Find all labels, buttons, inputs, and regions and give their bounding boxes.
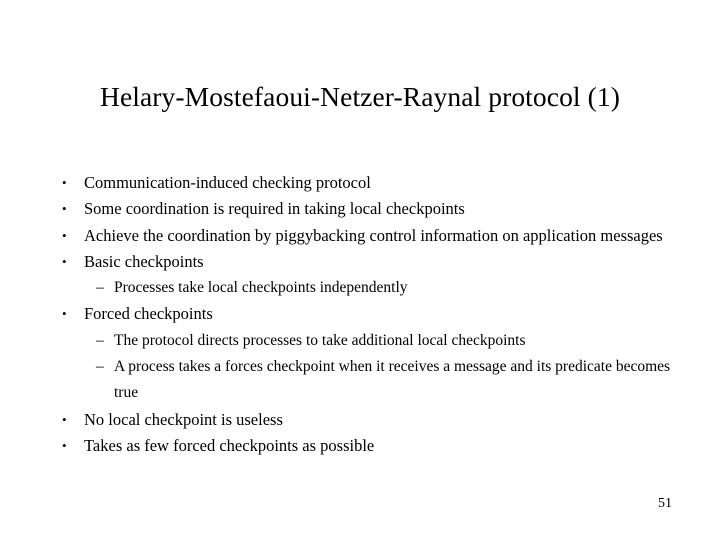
presentation-slide: Helary-Mostefaoui-Netzer-Raynal protocol… xyxy=(0,0,720,540)
bullet-text: Processes take local checkpoints indepen… xyxy=(114,275,673,301)
slide-title: Helary-Mostefaoui-Netzer-Raynal protocol… xyxy=(40,80,680,114)
bullet-item-level-2: –Processes take local checkpoints indepe… xyxy=(58,275,673,301)
bullet-text: Some coordination is required in taking … xyxy=(84,196,673,222)
bullet-text: Basic checkpoints xyxy=(84,249,673,275)
bullet-text: Takes as few forced checkpoints as possi… xyxy=(84,433,673,459)
bullet-text: The protocol directs processes to take a… xyxy=(114,328,673,354)
bullet-item-level-1: •Achieve the coordination by piggybackin… xyxy=(58,223,673,249)
bullet-text: A process takes a forces checkpoint when… xyxy=(114,354,673,407)
bullet-item-level-1: •No local checkpoint is useless xyxy=(58,407,673,433)
bullet-dot-icon: • xyxy=(58,170,84,196)
bullet-item-level-1: •Forced checkpoints xyxy=(58,301,673,327)
bullet-dash-icon: – xyxy=(96,354,114,380)
bullet-text: Achieve the coordination by piggybacking… xyxy=(84,223,673,249)
bullet-item-level-1: •Communication-induced checking protocol xyxy=(58,170,673,196)
bullet-item-level-1: •Basic checkpoints xyxy=(58,249,673,275)
bullet-text: Forced checkpoints xyxy=(84,301,673,327)
bullet-dot-icon: • xyxy=(58,223,84,249)
bullet-dash-icon: – xyxy=(96,275,114,301)
bullet-item-level-1: •Some coordination is required in taking… xyxy=(58,196,673,222)
bullet-dash-icon: – xyxy=(96,328,114,354)
bullet-item-level-1: •Takes as few forced checkpoints as poss… xyxy=(58,433,673,459)
bullet-dot-icon: • xyxy=(58,196,84,222)
slide-page-number: 51 xyxy=(658,495,672,513)
bullet-item-level-2: –A process takes a forces checkpoint whe… xyxy=(58,354,673,407)
bullet-dot-icon: • xyxy=(58,249,84,275)
bullet-item-level-2: –The protocol directs processes to take … xyxy=(58,328,673,354)
bullet-dot-icon: • xyxy=(58,433,84,459)
bullet-dot-icon: • xyxy=(58,407,84,433)
bullet-text: No local checkpoint is useless xyxy=(84,407,673,433)
bullet-dot-icon: • xyxy=(58,301,84,327)
slide-bullet-list: •Communication-induced checking protocol… xyxy=(58,170,673,459)
bullet-text: Communication-induced checking protocol xyxy=(84,170,673,196)
